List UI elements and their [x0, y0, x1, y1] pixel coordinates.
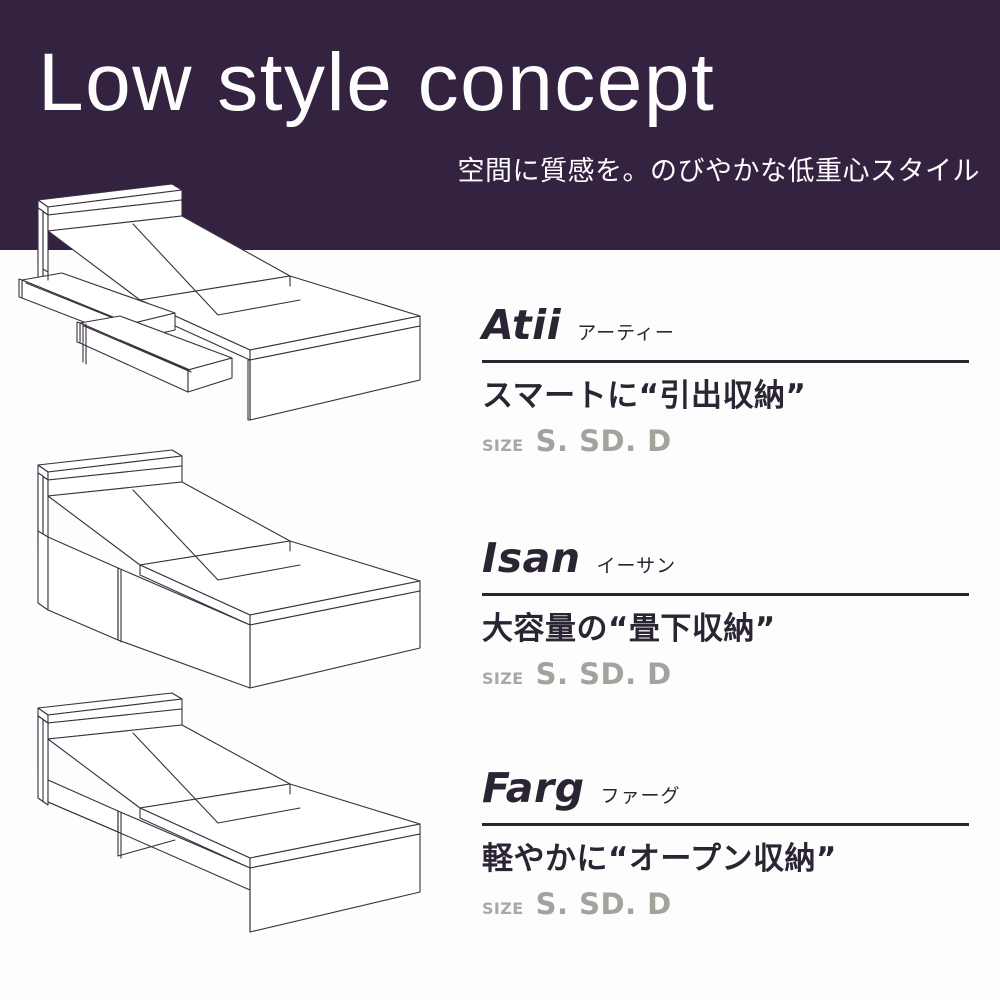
- bed-illustration-atii: [0, 180, 470, 470]
- product-size-row-atii: SIZE S. SD. D: [482, 427, 970, 456]
- product-tagline-atii: スマートに“引出収納”: [482, 379, 970, 415]
- size-values-atii: S. SD. D: [536, 427, 672, 456]
- page-title: Low style concept: [38, 42, 715, 124]
- product-brand-kana-isan: イーサン: [597, 557, 677, 576]
- product-brand-kana-farg: ファーグ: [601, 787, 681, 806]
- product-divider-isan: [482, 593, 969, 596]
- product-size-row-farg: SIZE S. SD. D: [482, 890, 970, 919]
- product-entry-farg: Farg ファーグ 軽やかに“オープン収納” SIZE S. SD. D: [482, 768, 970, 919]
- product-name-row-atii: Atii アーティー: [482, 305, 970, 353]
- product-brand-name-farg: Farg: [482, 768, 585, 809]
- size-label-farg: SIZE: [482, 901, 524, 917]
- size-label-atii: SIZE: [482, 438, 524, 454]
- size-values-isan: S. SD. D: [536, 660, 672, 689]
- product-tagline-isan: 大容量の“畳下収納”: [482, 612, 970, 648]
- size-values-farg: S. SD. D: [536, 890, 672, 919]
- product-brand-name-isan: Isan: [482, 538, 581, 579]
- bed-illustration-farg: [0, 690, 470, 990]
- product-tagline-farg: 軽やかに“オープン収納”: [482, 842, 970, 878]
- product-divider-farg: [482, 823, 969, 826]
- product-entry-atii: Atii アーティー スマートに“引出収納” SIZE S. SD. D: [482, 305, 970, 456]
- bed-illustration-isan: [0, 440, 470, 730]
- product-brand-name-atii: Atii: [482, 305, 561, 346]
- product-name-row-farg: Farg ファーグ: [482, 768, 970, 816]
- page-subtitle: 空間に質感を。のびやかな低重心スタイル: [458, 158, 981, 185]
- product-name-row-isan: Isan イーサン: [482, 538, 970, 586]
- product-size-row-isan: SIZE S. SD. D: [482, 660, 970, 689]
- size-label-isan: SIZE: [482, 671, 524, 687]
- product-divider-atii: [482, 360, 969, 363]
- product-entry-isan: Isan イーサン 大容量の“畳下収納” SIZE S. SD. D: [482, 538, 970, 689]
- product-brand-kana-atii: アーティー: [577, 324, 675, 343]
- promo-page: Low style concept 空間に質感を。のびやかな低重心スタイル: [0, 0, 1000, 1000]
